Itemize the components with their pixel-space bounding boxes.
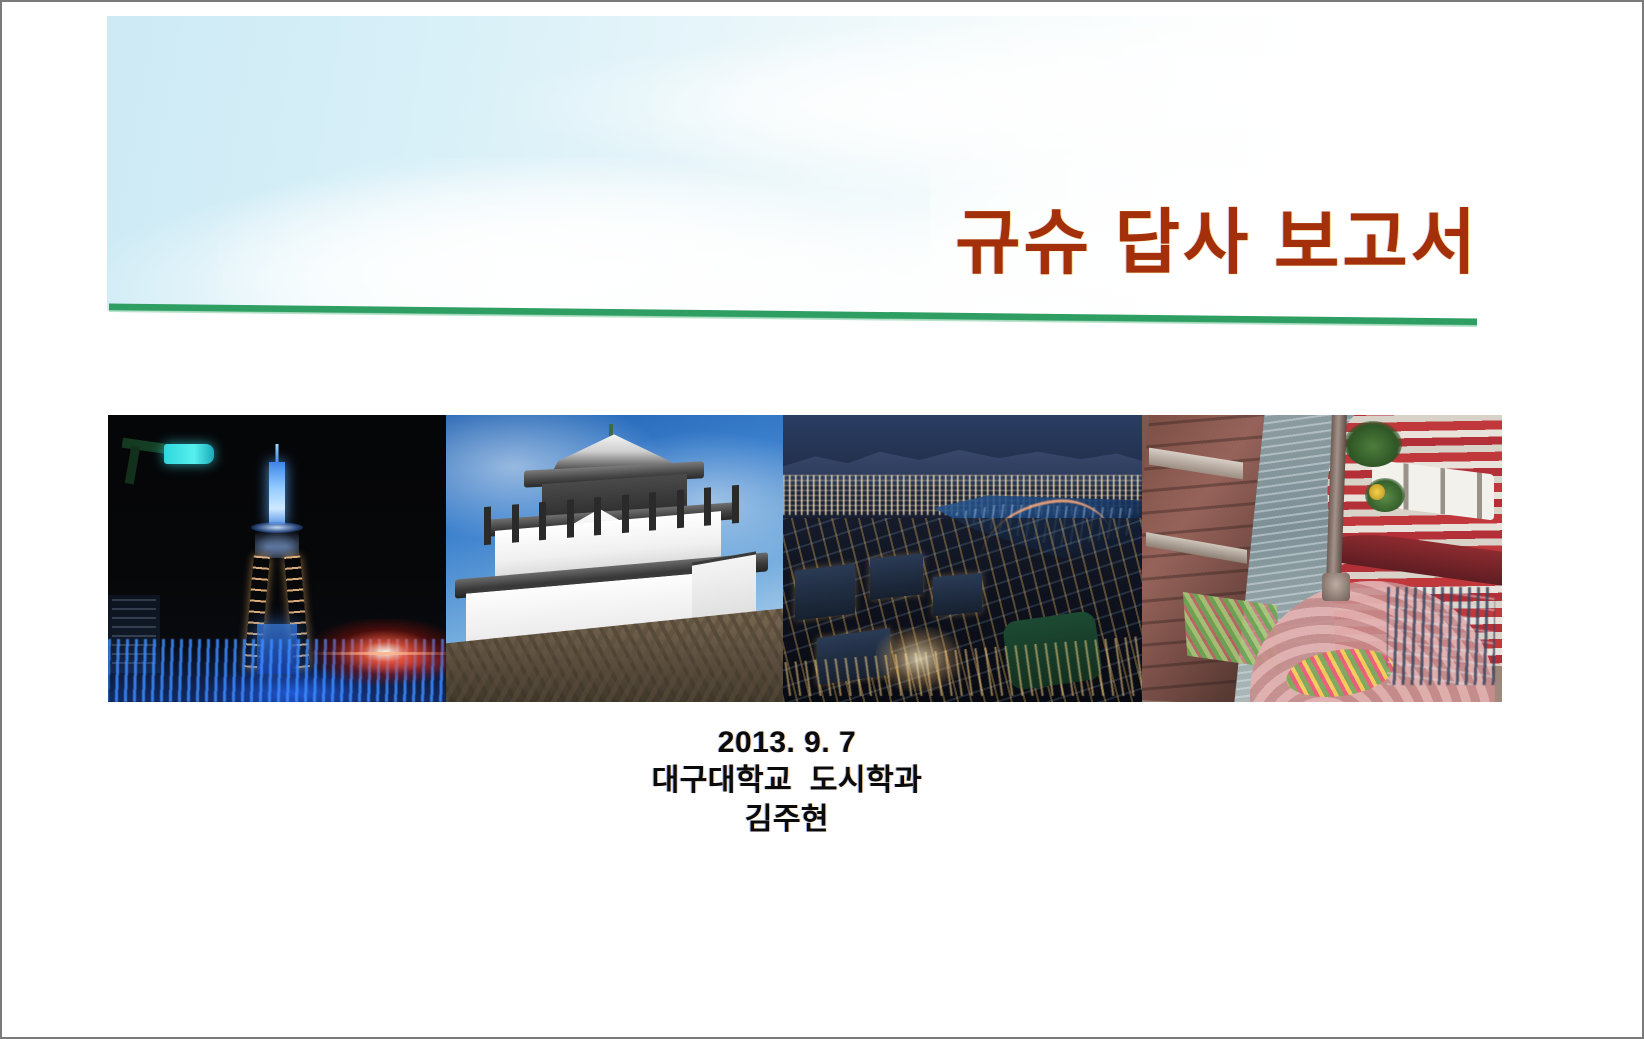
tower-upper-shaft [269,462,285,524]
window [484,506,491,545]
window [732,485,739,524]
title-divider [107,301,1479,327]
photo-strip [108,415,1502,702]
photo-kokura-castle [446,415,783,702]
castle-keep [466,432,756,644]
red-light-flare [310,619,446,685]
footer-credits: 2013. 9. 7 대구대학교 도시학과 김주현 [2,724,1572,839]
window [511,504,518,543]
window [676,490,683,529]
crowd-of-people [1387,587,1495,685]
lamp-post-base [1322,573,1350,601]
divider-line-svg [107,301,1479,327]
roof-finial [609,424,613,436]
tower-mid-section [255,530,299,558]
presentation-date: 2013. 9. 7 [2,724,1572,762]
lamp-head [164,444,214,464]
building-block [870,553,923,600]
window [566,499,573,538]
window [594,497,601,536]
title-container: 규슈 답사 보고서 [107,207,1479,282]
window [539,502,546,541]
photo-fukuoka-tower-night [108,415,446,702]
street-lamp [122,432,222,480]
author-name: 김주현 [2,801,1572,839]
page-title: 규슈 답사 보고서 [955,207,1479,282]
photo-city-night-aerial [783,415,1142,702]
lamp-pole [124,446,139,485]
window [621,494,628,533]
street-glow [876,627,962,690]
building-block [933,573,982,616]
affiliation-text: 대구대학교 도시학과 [2,762,1572,800]
tower-spire [276,444,279,464]
window [649,492,656,531]
yellow-lantern [1369,484,1385,500]
building-block [795,563,855,620]
window [704,487,711,526]
presentation-slide: 규슈 답사 보고서 [0,0,1644,1039]
tree-foliage [1344,421,1402,467]
photo-canal-city-hakata [1142,415,1502,702]
